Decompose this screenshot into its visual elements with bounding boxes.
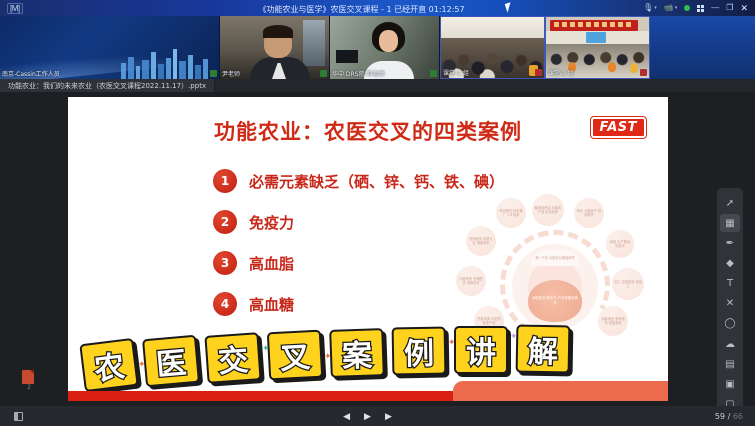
decor-balloon	[608, 62, 616, 72]
chevron-down-icon[interactable]: ▾	[654, 6, 657, 11]
infographic-node: 功能食品 营养强化 健康食品	[598, 306, 628, 336]
industry-chain-infographic: 第一产业 功能农业基础研究 功能农业·种业与 产业化服务体系 膳食营养素 功能农…	[450, 192, 660, 342]
hall-banner-text	[554, 22, 632, 27]
layout-grid-icon[interactable]	[697, 5, 704, 12]
bottom-bar-left	[0, 412, 60, 421]
video-background-detail	[303, 20, 325, 66]
video-background-detail	[336, 50, 358, 63]
bullet-number: 1	[213, 169, 237, 193]
page-current: 59	[715, 412, 725, 421]
bullet-text: 免疫力	[249, 212, 294, 233]
microphone-icon[interactable]: 🎙▾	[643, 4, 657, 12]
pen-icon[interactable]: ✒	[720, 234, 740, 252]
bullet-text: 高血脂	[249, 253, 294, 274]
next-slide-button[interactable]: ▶	[385, 412, 392, 421]
slide-thumbnail[interactable]: 2	[22, 370, 36, 387]
page-separator: /	[725, 412, 733, 421]
infographic-core: 功能农业·种业与 产业化服务体系	[528, 280, 582, 322]
infographic-node: 冷链物流 仓储配送 保鲜技术	[456, 266, 486, 296]
banner-char: 讲	[454, 326, 508, 374]
play-button[interactable]: ▶	[364, 412, 371, 421]
infographic-node: 种业 功能种子 良种繁育	[574, 198, 604, 228]
banner-char: 农	[79, 338, 138, 392]
text-icon[interactable]: T	[720, 275, 740, 293]
banner-char: 叉	[267, 330, 323, 381]
person-hair	[263, 25, 293, 38]
video-strip-filler	[650, 16, 755, 79]
meeting-screenshare-window: [M] 《功能农业与医学》农医交叉课程 - 1 已经开直 01:12:57 🎙▾…	[0, 0, 755, 426]
participant-name: 南京-Cassin工作人员	[2, 69, 60, 78]
meeting-title: 《功能农业与医学》农医交叉课程 - 1 已经开直 01:12:57	[259, 5, 465, 14]
banner-char: 案	[329, 328, 385, 378]
participant-name: 尹老师	[222, 69, 240, 78]
archive-icon[interactable]: ▤	[720, 355, 740, 373]
video-tile[interactable]: 课堂-2 组	[545, 16, 650, 79]
infographic-node: 加工 农副食品 深加工	[612, 268, 644, 300]
sparkle-icon: ✦	[448, 337, 456, 348]
bullet-number: 3	[213, 251, 237, 275]
sparkle-icon: ✦	[324, 351, 332, 362]
infographic-node: 检测服务 品质认证 溯源体系	[466, 226, 496, 256]
close-annotation-icon[interactable]: ✕	[720, 295, 740, 313]
slide-thumbnail-rail: 2	[0, 92, 58, 406]
participant-name: 华中 DRS院-邓老师	[332, 69, 385, 78]
infographic-hub-caption: 第一产业 功能农业基础研究	[530, 250, 580, 266]
select-grid-icon[interactable]: ▦	[720, 214, 740, 232]
title-bar-left: [M]	[0, 3, 80, 14]
panel-toggle-icon[interactable]	[14, 412, 23, 421]
video-tile[interactable]: 课堂-1 组	[440, 16, 545, 79]
slide-banner: 农 医 交 叉 案 例 讲 解 ✦ ✦ ✦ ✦ ✦	[82, 325, 592, 387]
player-bottom-bar: ◀ ▶ ▶ 59 / 66	[0, 406, 755, 426]
slide-title: 功能农业：农医交叉的四类案例	[68, 116, 668, 146]
annotation-toolbar: ➚ ▦ ✒ ◆ T ✕ ◯ ☁ ▤ ▣ ▢ ▭ ▲ 59 64	[717, 188, 743, 426]
video-tile[interactable]: 华中 DRS院-邓老师	[330, 16, 440, 79]
playback-controls: ◀ ▶ ▶	[60, 412, 675, 421]
app-logo-icon: [M]	[7, 3, 23, 14]
video-tile[interactable]: 南京-Cassin工作人员	[0, 16, 220, 79]
person-head	[379, 30, 398, 52]
page-total: 66	[733, 412, 743, 421]
banner-char: 解	[516, 325, 571, 374]
fast-logo: FAST	[591, 117, 647, 138]
shape-circle-icon[interactable]: ◯	[720, 315, 740, 333]
save-disk-icon[interactable]: ▣	[720, 375, 740, 393]
banner-char: 医	[142, 335, 200, 388]
file-tab-bar: 功能农业：我们的未来农业（农医交叉课程2022.11.17）.pptx	[0, 79, 755, 92]
sparkle-icon: ✦	[262, 343, 270, 354]
thumbnail-label: 2	[22, 385, 36, 391]
microphone-status-icon	[535, 69, 542, 76]
banner-char: 例	[392, 327, 447, 376]
slide-footer-accent	[453, 381, 668, 401]
presentation-workspace: 2 功能农业：农医交叉的四类案例 FAST 1 必需元素缺乏（硒、锌、钙、铁、碘…	[0, 92, 755, 426]
participant-name: 课堂-1 组	[443, 68, 469, 77]
infographic-node: 膳食营养素 功能农产品 精准营养	[532, 194, 564, 226]
restore-button[interactable]: ❐	[726, 4, 733, 12]
video-tile[interactable]: 尹老师	[220, 16, 330, 79]
participant-name: 课堂-2 组	[548, 68, 574, 77]
infographic-node: 种植 生产基地 标准化	[606, 230, 634, 258]
chevron-down-icon[interactable]: ▾	[675, 6, 678, 11]
skyline-graphic	[119, 49, 215, 79]
cloud-icon[interactable]: ☁	[720, 335, 740, 353]
participant-video-strip: 南京-Cassin工作人员 尹老师 华中 DRS院-邓老师 课堂-	[0, 16, 755, 79]
window-title-bar: [M] 《功能农业与医学》农医交叉课程 - 1 已经开直 01:12:57 🎙▾…	[0, 0, 755, 16]
title-bar-center: 《功能农业与医学》农医交叉课程 - 1 已经开直 01:12:57	[80, 0, 643, 17]
microphone-status-icon	[210, 70, 217, 77]
close-button[interactable]: ✕	[740, 4, 748, 13]
bullet-item: 1 必需元素缺乏（硒、锌、钙、铁、碘）	[213, 169, 504, 193]
microphone-status-icon	[640, 69, 647, 76]
minimize-button[interactable]: —	[711, 4, 719, 12]
bullet-number: 2	[213, 210, 237, 234]
document-icon	[22, 370, 34, 384]
sparkle-icon: ✦	[138, 359, 146, 370]
decor-balloon	[630, 63, 638, 73]
recording-status-dot	[684, 5, 690, 11]
previous-slide-button[interactable]: ◀	[343, 412, 350, 421]
bullet-number: 4	[213, 292, 237, 316]
eraser-icon[interactable]: ◆	[720, 254, 740, 272]
sparkle-icon: ✦	[510, 331, 518, 342]
cursor-icon[interactable]: ➚	[720, 194, 740, 212]
file-tab[interactable]: 功能农业：我们的未来农业（农医交叉课程2022.11.17）.pptx	[0, 79, 215, 92]
title-bar-controls: 🎙▾ 📹▾ — ❐ ✕	[643, 4, 755, 13]
bullet-text: 高血糖	[249, 294, 294, 315]
hall-screen	[586, 32, 606, 43]
banner-char: 交	[204, 332, 261, 384]
page-counter: 59 / 66	[675, 412, 755, 421]
microphone-status-icon	[430, 70, 437, 77]
microphone-status-icon	[320, 70, 327, 77]
bullet-text: 必需元素缺乏（硒、锌、钙、铁、碘）	[249, 171, 504, 192]
infographic-node: 科研服务 技术推广 人才培养	[496, 198, 526, 228]
camera-icon[interactable]: 📹▾	[664, 4, 677, 12]
slide-canvas[interactable]: 功能农业：农医交叉的四类案例 FAST 1 必需元素缺乏（硒、锌、钙、铁、碘） …	[68, 97, 668, 401]
